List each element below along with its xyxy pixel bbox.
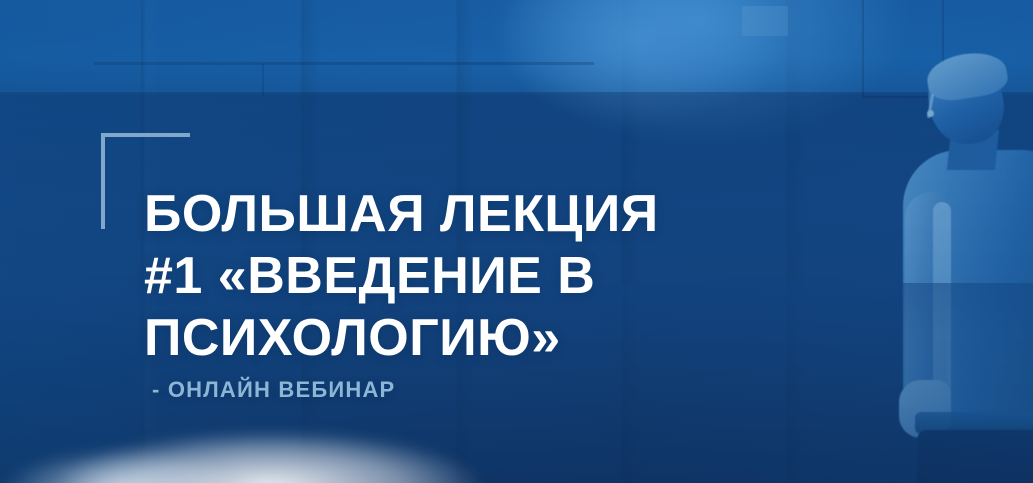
webinar-promo-banner: БОЛЬШАЯ ЛЕКЦИЯ #1 «ВВЕДЕНИЕ В ПСИХОЛОГИЮ…: [0, 0, 1033, 483]
banner-subtitle: - ОНЛАЙН ВЕБИНАР: [152, 377, 744, 403]
headline-line-3: ПСИХОЛОГИЮ»: [144, 307, 744, 369]
speaker-microphone: [927, 110, 934, 117]
banner-text-block: БОЛЬШАЯ ЛЕКЦИЯ #1 «ВВЕДЕНИЕ В ПСИХОЛОГИЮ…: [144, 183, 744, 403]
wall-sign: [742, 6, 788, 36]
headline-line-2: #1 «ВВЕДЕНИЕ В: [144, 245, 744, 307]
wall-trim-vertical: [262, 64, 264, 96]
wall-trim-line: [94, 62, 594, 65]
headline-line-1: БОЛЬШАЯ ЛЕКЦИЯ: [144, 183, 744, 245]
